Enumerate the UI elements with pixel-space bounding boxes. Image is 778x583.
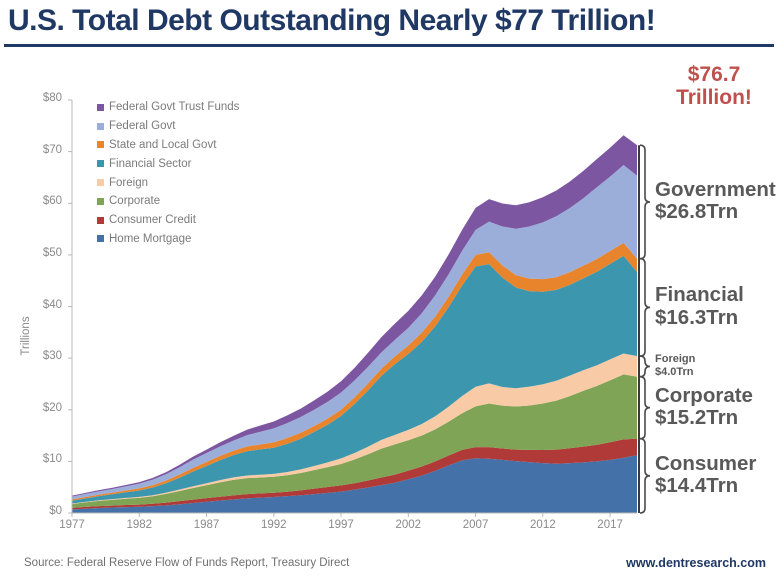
annotation-government-value: $26.8Trn bbox=[655, 201, 776, 223]
bracket-consumer bbox=[640, 439, 650, 513]
total-callout-line2: Trillion! bbox=[676, 86, 752, 109]
legend-swatch-icon bbox=[97, 179, 104, 186]
total-callout: $76.7 Trillion! bbox=[650, 63, 778, 109]
bracket-group bbox=[639, 145, 650, 513]
annotation-consumer-value: $14.4Trn bbox=[655, 475, 756, 497]
x-tick-label: 1982 bbox=[112, 519, 166, 531]
y-tick-label: $20 bbox=[22, 402, 62, 414]
annotation-corporate-label: Corporate bbox=[655, 385, 753, 407]
y-tick-label: $10 bbox=[22, 453, 62, 465]
y-tick-label: $40 bbox=[22, 299, 62, 311]
annotation-financial: Financial$16.3Trn bbox=[655, 284, 744, 328]
annotation-corporate: Corporate$15.2Trn bbox=[655, 385, 753, 429]
annotation-government: Government$26.8Trn bbox=[655, 179, 776, 223]
bracket-government bbox=[640, 145, 650, 259]
y-tick-label: $30 bbox=[22, 350, 62, 362]
annotation-consumer-label: Consumer bbox=[655, 453, 756, 475]
x-tick-label: 1997 bbox=[314, 519, 368, 531]
legend-item-label: Financial Sector bbox=[109, 158, 191, 170]
x-tick-label: 1987 bbox=[180, 519, 234, 531]
legend-swatch-icon bbox=[97, 104, 104, 111]
x-tick-label: 2017 bbox=[583, 519, 637, 531]
x-tick-label: 1977 bbox=[45, 519, 99, 531]
chart-page: U.S. Total Debt Outstanding Nearly $77 T… bbox=[0, 0, 778, 583]
legend-swatch-icon bbox=[97, 217, 104, 224]
annotation-financial-label: Financial bbox=[655, 284, 744, 306]
annotation-consumer: Consumer$14.4Trn bbox=[655, 453, 756, 497]
legend-item-foreign[interactable]: Foreign bbox=[97, 173, 239, 192]
annotation-financial-value: $16.3Trn bbox=[655, 307, 744, 329]
x-tick-label: 2007 bbox=[449, 519, 503, 531]
legend-item-corporate[interactable]: Corporate bbox=[97, 192, 239, 211]
annotation-corporate-value: $15.2Trn bbox=[655, 407, 753, 429]
annotation-government-label: Government bbox=[655, 179, 776, 201]
legend-item-label: Federal Govt Trust Funds bbox=[109, 101, 239, 113]
y-tick-label: $80 bbox=[22, 92, 62, 104]
bracket-corporate bbox=[640, 377, 650, 439]
legend-swatch-icon bbox=[97, 198, 104, 205]
legend-item-consumer-credit[interactable]: Consumer Credit bbox=[97, 211, 239, 230]
legend-item-label: State and Local Govt bbox=[109, 139, 216, 151]
bracket-foreign bbox=[640, 356, 650, 377]
x-tick-label: 2012 bbox=[516, 519, 570, 531]
legend-item-federal-govt[interactable]: Federal Govt bbox=[97, 117, 239, 136]
legend-item-home-mortgage[interactable]: Home Mortgage bbox=[97, 230, 239, 249]
legend-item-financial-sector[interactable]: Financial Sector bbox=[97, 154, 239, 173]
legend-item-label: Foreign bbox=[109, 177, 148, 189]
legend-swatch-icon bbox=[97, 123, 104, 130]
legend-item-label: Corporate bbox=[109, 195, 160, 207]
legend-item-federal-govt-trust-funds[interactable]: Federal Govt Trust Funds bbox=[97, 98, 239, 117]
bracket-financial bbox=[640, 259, 650, 356]
legend-swatch-icon bbox=[97, 235, 104, 242]
y-tick-label: $70 bbox=[22, 144, 62, 156]
legend-item-state-and-local-govt[interactable]: State and Local Govt bbox=[97, 136, 239, 155]
legend-item-label: Consumer Credit bbox=[109, 214, 196, 226]
y-tick-label: $50 bbox=[22, 247, 62, 259]
annotation-foreign-label: Foreign bbox=[655, 353, 695, 366]
legend-swatch-icon bbox=[97, 141, 104, 148]
x-tick-label: 1992 bbox=[247, 519, 301, 531]
annotation-foreign-value: $4.0Trn bbox=[655, 366, 695, 379]
legend-item-label: Home Mortgage bbox=[109, 233, 191, 245]
x-tick-label: 2002 bbox=[381, 519, 435, 531]
legend-swatch-icon bbox=[97, 160, 104, 167]
y-tick-label: $0 bbox=[22, 505, 62, 517]
legend-item-label: Federal Govt bbox=[109, 120, 175, 132]
source-note: Source: Federal Reserve Flow of Funds Re… bbox=[24, 557, 349, 569]
annotation-foreign: Foreign$4.0Trn bbox=[655, 353, 695, 378]
total-callout-line1: $76.7 bbox=[688, 63, 741, 86]
chart-legend: Federal Govt Trust FundsFederal GovtStat… bbox=[97, 98, 239, 248]
website-link[interactable]: www.dentresearch.com bbox=[626, 556, 766, 570]
y-tick-label: $60 bbox=[22, 195, 62, 207]
